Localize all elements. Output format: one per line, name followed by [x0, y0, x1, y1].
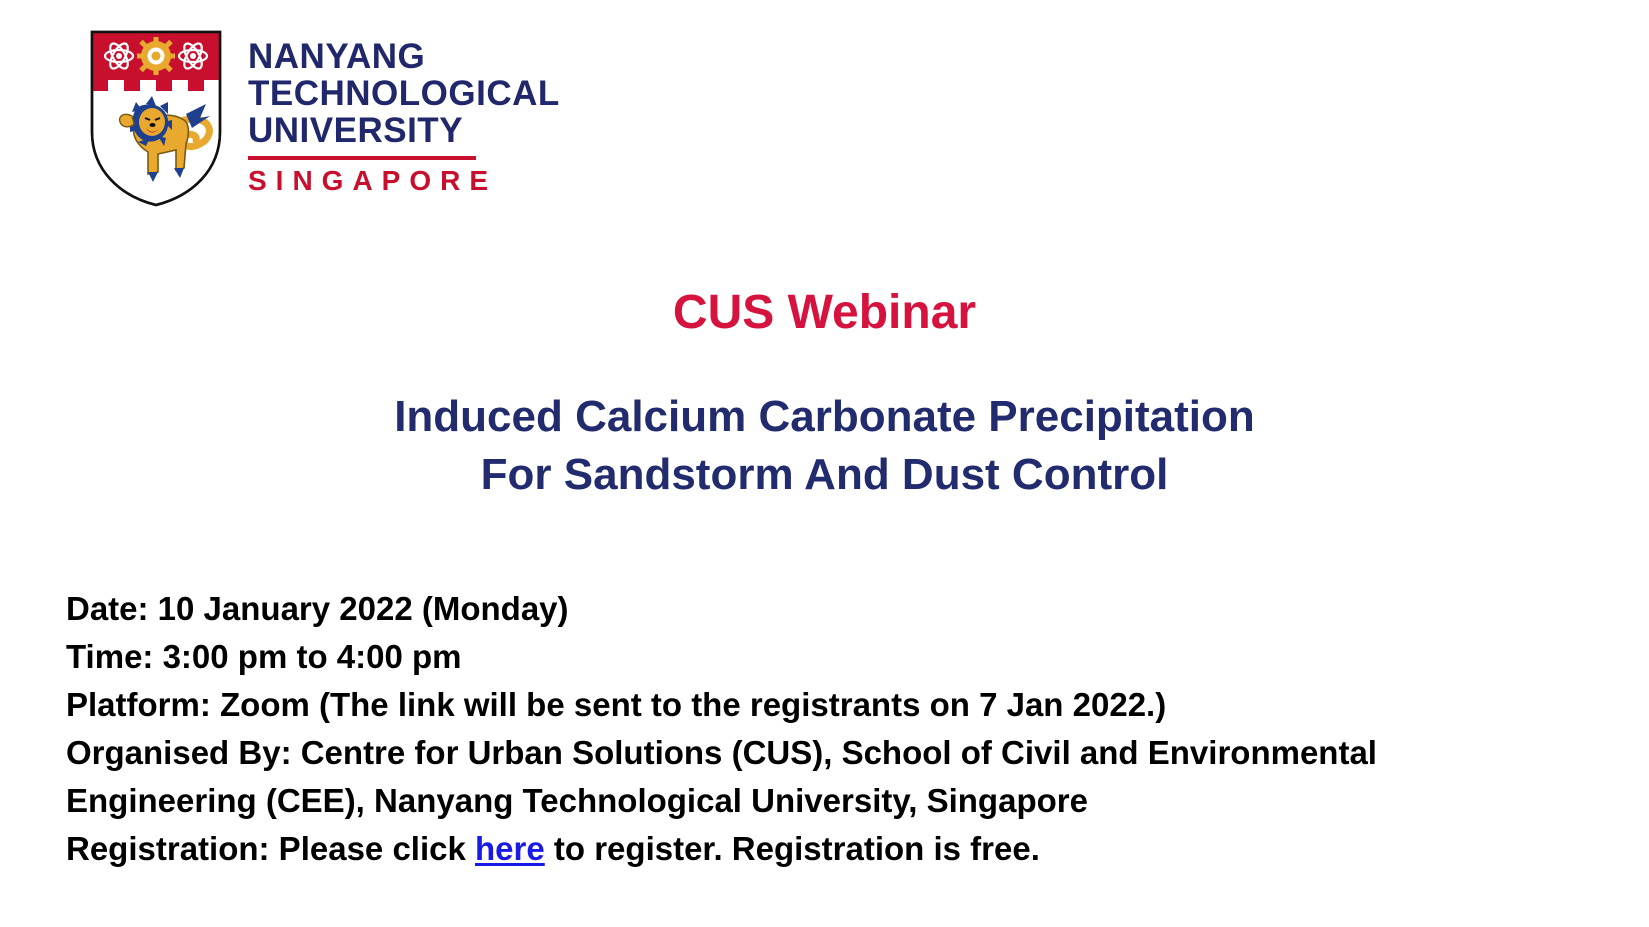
ntu-crest-icon — [88, 28, 224, 208]
detail-registration: Registration: Please click here to regis… — [66, 825, 1546, 873]
detail-time: Time: 3:00 pm to 4:00 pm — [66, 633, 1546, 681]
wordmark-line-2: TECHNOLOGICAL — [248, 75, 560, 112]
registration-suffix: to register. Registration is free. — [545, 830, 1040, 867]
detail-date: Date: 10 January 2022 (Monday) — [66, 585, 1546, 633]
page-title: Induced Calcium Carbonate Precipitation … — [0, 388, 1649, 504]
registration-prefix: Registration: Please click — [66, 830, 475, 867]
ntu-wordmark: NANYANG TECHNOLOGICAL UNIVERSITY SINGAPO… — [248, 38, 560, 196]
registration-link[interactable]: here — [475, 830, 545, 867]
wordmark-singapore: SINGAPORE — [248, 166, 560, 196]
page-title-line-1: Induced Calcium Carbonate Precipitation — [0, 388, 1649, 446]
page-title-line-2: For Sandstorm And Dust Control — [0, 446, 1649, 504]
wordmark-line-3: UNIVERSITY — [248, 112, 560, 149]
detail-platform: Platform: Zoom (The link will be sent to… — [66, 681, 1546, 729]
ntu-logo: NANYANG TECHNOLOGICAL UNIVERSITY SINGAPO… — [88, 28, 560, 208]
flyer-page: NANYANG TECHNOLOGICAL UNIVERSITY SINGAPO… — [0, 0, 1649, 927]
wordmark-line-1: NANYANG — [248, 38, 560, 75]
wordmark-divider — [248, 156, 476, 160]
detail-organised-by: Organised By: Centre for Urban Solutions… — [66, 729, 1546, 825]
webinar-label: CUS Webinar — [0, 285, 1649, 341]
event-details: Date: 10 January 2022 (Monday) Time: 3:0… — [66, 585, 1546, 873]
